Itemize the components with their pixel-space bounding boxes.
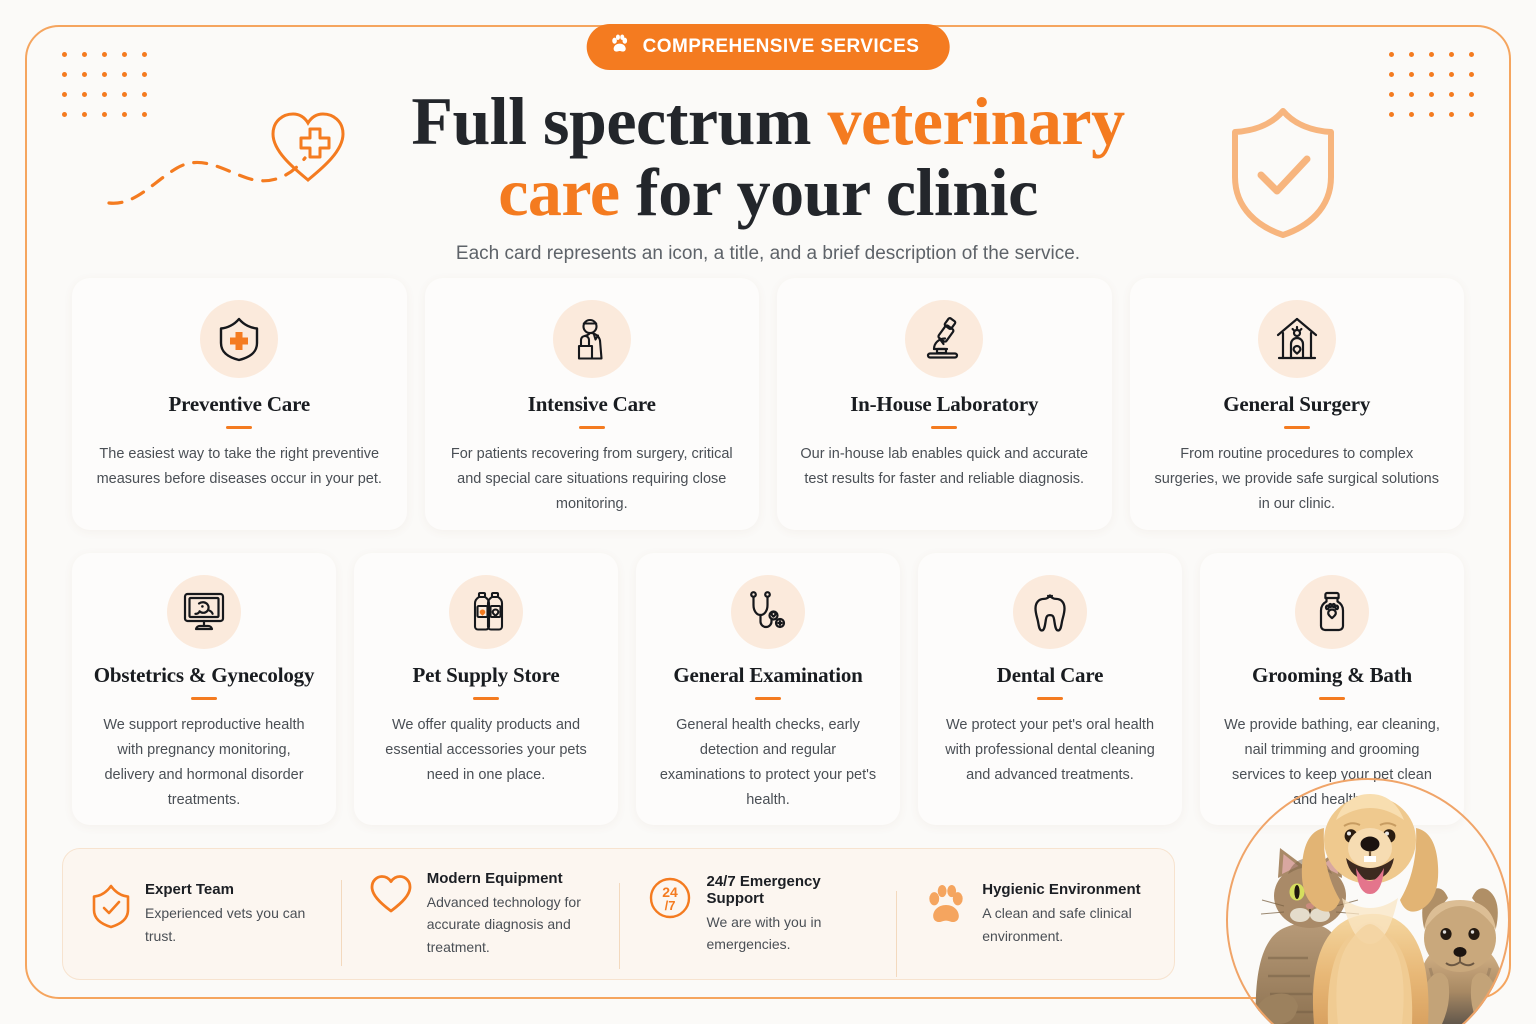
service-card-general-examination[interactable]: General Examination General health check… [636, 553, 900, 825]
feature-description: A clean and safe clinical environment. [982, 902, 1154, 947]
feature-title: 24/7 Emergency Support [707, 873, 877, 907]
shampoo-bottle-paw-icon [1295, 575, 1369, 649]
grid-dot [102, 72, 107, 77]
icon-text-bottom: /7 [664, 898, 675, 913]
service-title: General Surgery [1150, 392, 1445, 417]
grid-dot [1409, 72, 1414, 77]
service-title: Dental Care [938, 663, 1162, 688]
service-description: General health checks, early detection a… [656, 713, 880, 813]
feature-description: Experienced vets you can trust. [145, 902, 321, 947]
grid-dot [82, 72, 87, 77]
grid-dot [1469, 52, 1474, 57]
service-title: General Examination [656, 663, 880, 688]
feature-modern-equipment[interactable]: Modern Equipment Advanced technology for… [341, 870, 619, 958]
feature-hygienic-environment[interactable]: Hygienic Environment A clean and safe cl… [896, 881, 1174, 947]
pet-house-icon [1258, 300, 1336, 378]
service-card-general-surgery[interactable]: General Surgery From routine procedures … [1130, 278, 1465, 530]
grid-dot [122, 52, 127, 57]
feature-strip: Expert Team Experienced vets you can tru… [62, 848, 1175, 980]
vet-with-pet-icon [553, 300, 631, 378]
service-description: The easiest way to take the right preven… [92, 442, 387, 492]
feature-title: Modern Equipment [427, 870, 599, 887]
grid-dot [1449, 72, 1454, 77]
title-underline [226, 426, 252, 429]
pets-photo [1218, 778, 1522, 1024]
paw-print-icon [609, 33, 631, 61]
grid-dot [62, 72, 67, 77]
24-7-circle-icon: 24 /7 [647, 875, 693, 926]
service-card-obstetrics-gynecology[interactable]: Obstetrics & Gynecology We support repro… [72, 553, 336, 825]
service-card-in-house-laboratory[interactable]: In-House Laboratory Our in-house lab ena… [777, 278, 1112, 530]
feature-description: We are with you in emergencies. [707, 911, 877, 956]
title-underline [473, 697, 499, 700]
ultrasound-monitor-icon [167, 575, 241, 649]
service-description: We support reproductive health with preg… [92, 713, 316, 813]
service-title: Intensive Care [445, 392, 740, 417]
grid-dot [82, 52, 87, 57]
title-part-3: care [498, 154, 619, 230]
feature-expert-team[interactable]: Expert Team Experienced vets you can tru… [63, 881, 341, 947]
stethoscope-icon [731, 575, 805, 649]
service-title: Grooming & Bath [1220, 663, 1444, 688]
service-description: We offer quality products and essential … [374, 713, 598, 788]
title-part-2: veterinary [827, 83, 1124, 159]
title-part-1: Full spectrum [411, 83, 827, 159]
grid-dot [1429, 72, 1434, 77]
grid-dot [1389, 72, 1394, 77]
service-card-preventive-care[interactable]: Preventive Care The easiest way to take … [72, 278, 407, 530]
service-description: From routine procedures to complex surge… [1150, 442, 1445, 517]
title-underline [1037, 697, 1063, 700]
title-underline [191, 697, 217, 700]
grid-dot [1389, 52, 1394, 57]
title-underline [1319, 697, 1345, 700]
title-underline [755, 697, 781, 700]
microscope-icon [905, 300, 983, 378]
pet-bottles-icon [449, 575, 523, 649]
service-title: In-House Laboratory [797, 392, 1092, 417]
grid-dot [1409, 52, 1414, 57]
service-title: Obstetrics & Gynecology [92, 663, 316, 688]
feature-title: Expert Team [145, 881, 321, 898]
grid-dot [102, 52, 107, 57]
service-title: Pet Supply Store [374, 663, 598, 688]
grid-dot [1429, 52, 1434, 57]
tooth-icon [1013, 575, 1087, 649]
feature-emergency-support[interactable]: 24 /7 24/7 Emergency Support We are with… [619, 873, 897, 956]
section-badge-label: COMPREHENSIVE SERVICES [643, 36, 920, 58]
title-part-4: for your clinic [620, 154, 1038, 230]
feature-description: Advanced technology for accurate diagnos… [427, 891, 599, 958]
title-underline [1284, 426, 1310, 429]
grid-dot [142, 52, 147, 57]
service-card-dental-care[interactable]: Dental Care We protect your pet's oral h… [918, 553, 1182, 825]
services-row-1: Preventive Care The easiest way to take … [72, 278, 1464, 530]
page-subtitle: Each card represents an icon, a title, a… [0, 243, 1536, 265]
grid-dot [142, 72, 147, 77]
service-title: Preventive Care [92, 392, 387, 417]
service-card-intensive-care[interactable]: Intensive Care For patients recovering f… [425, 278, 760, 530]
feature-title: Hygienic Environment [982, 881, 1154, 898]
grid-dot [1449, 52, 1454, 57]
title-underline [931, 426, 957, 429]
heart-outline-icon [369, 872, 413, 921]
paw-print-icon [924, 883, 968, 932]
section-badge: COMPREHENSIVE SERVICES [587, 24, 950, 70]
page-header: Full spectrum veterinary care for your c… [0, 86, 1536, 265]
service-description: For patients recovering from surgery, cr… [445, 442, 740, 517]
service-description: Our in-house lab enables quick and accur… [797, 442, 1092, 492]
page-title: Full spectrum veterinary care for your c… [0, 86, 1536, 227]
title-underline [579, 426, 605, 429]
grid-dot [1469, 72, 1474, 77]
grid-dot [62, 52, 67, 57]
shield-cross-icon [200, 300, 278, 378]
shield-check-icon [91, 883, 131, 934]
service-description: We protect your pet's oral health with p… [938, 713, 1162, 788]
grid-dot [122, 72, 127, 77]
service-card-pet-supply-store[interactable]: Pet Supply Store We offer quality produc… [354, 553, 618, 825]
